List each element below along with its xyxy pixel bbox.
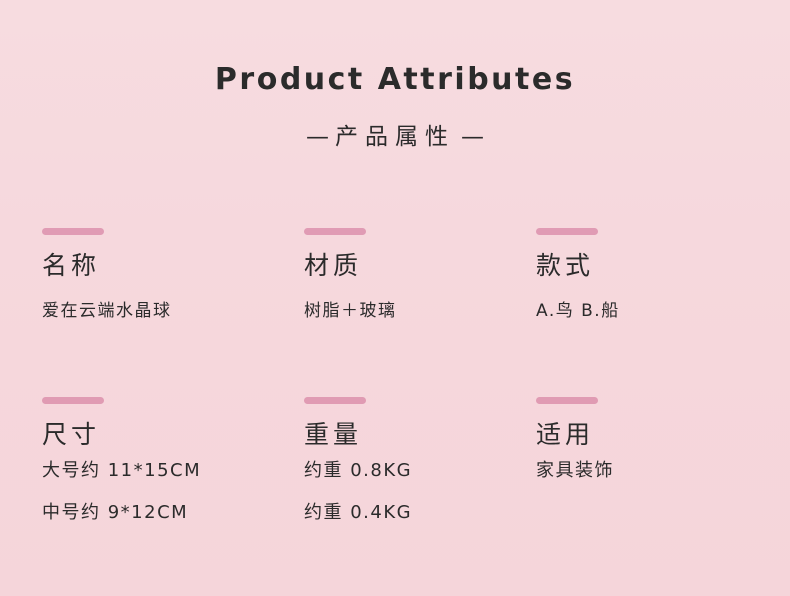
- title-chinese-text: 产品属性: [335, 124, 455, 150]
- accent-bar-icon: [536, 228, 598, 235]
- product-attributes-page: Product Attributes —产品属性— 名称 爱在云端水晶球 材质 …: [0, 0, 790, 596]
- attribute-cell-weight: 重量 约重 0.8KG 约重 0.4KG: [304, 397, 536, 524]
- accent-bar-icon: [42, 397, 104, 404]
- attribute-value-line: 爱在云端水晶球: [42, 302, 304, 322]
- page-title-english: Product Attributes: [0, 62, 790, 97]
- attribute-value-line: A.鸟 B.船: [536, 302, 790, 322]
- attribute-values: 爱在云端水晶球: [42, 302, 304, 322]
- attribute-title: 重量: [304, 421, 536, 449]
- attribute-values: A.鸟 B.船: [536, 302, 790, 322]
- attribute-value-line: 约重 0.4KG: [304, 503, 536, 524]
- attribute-value-line: 家具装饰: [536, 461, 790, 482]
- attribute-cell-name: 名称 爱在云端水晶球: [42, 228, 304, 321]
- accent-bar-icon: [42, 228, 104, 235]
- accent-bar-icon: [536, 397, 598, 404]
- attribute-value-line: 大号约 11*15CM: [42, 461, 304, 482]
- attribute-value-line: 树脂＋玻璃: [304, 302, 536, 322]
- title-dash-right: —: [455, 124, 490, 150]
- attribute-cell-usage: 适用 家具装饰: [536, 397, 790, 524]
- attribute-values: 家具装饰: [536, 461, 790, 482]
- attributes-grid: 名称 爱在云端水晶球 材质 树脂＋玻璃 款式 A.鸟 B.船 尺寸 大号约 11…: [0, 228, 790, 524]
- attribute-value-line: 约重 0.8KG: [304, 461, 536, 482]
- title-dash-left: —: [300, 124, 335, 150]
- attribute-values: 树脂＋玻璃: [304, 302, 536, 322]
- attribute-title: 款式: [536, 252, 790, 280]
- page-header: Product Attributes —产品属性—: [0, 0, 790, 151]
- attribute-title: 材质: [304, 252, 536, 280]
- attribute-values: 约重 0.8KG 约重 0.4KG: [304, 461, 536, 524]
- attribute-title: 适用: [536, 421, 790, 449]
- accent-bar-icon: [304, 228, 366, 235]
- attribute-value-line: 中号约 9*12CM: [42, 503, 304, 524]
- attribute-title: 名称: [42, 252, 304, 280]
- attribute-cell-material: 材质 树脂＋玻璃: [304, 228, 536, 321]
- attribute-cell-style: 款式 A.鸟 B.船: [536, 228, 790, 321]
- page-title-chinese: —产品属性—: [0, 117, 790, 151]
- attribute-cell-size: 尺寸 大号约 11*15CM 中号约 9*12CM: [42, 397, 304, 524]
- accent-bar-icon: [304, 397, 366, 404]
- attribute-title: 尺寸: [42, 421, 304, 449]
- attribute-values: 大号约 11*15CM 中号约 9*12CM: [42, 461, 304, 524]
